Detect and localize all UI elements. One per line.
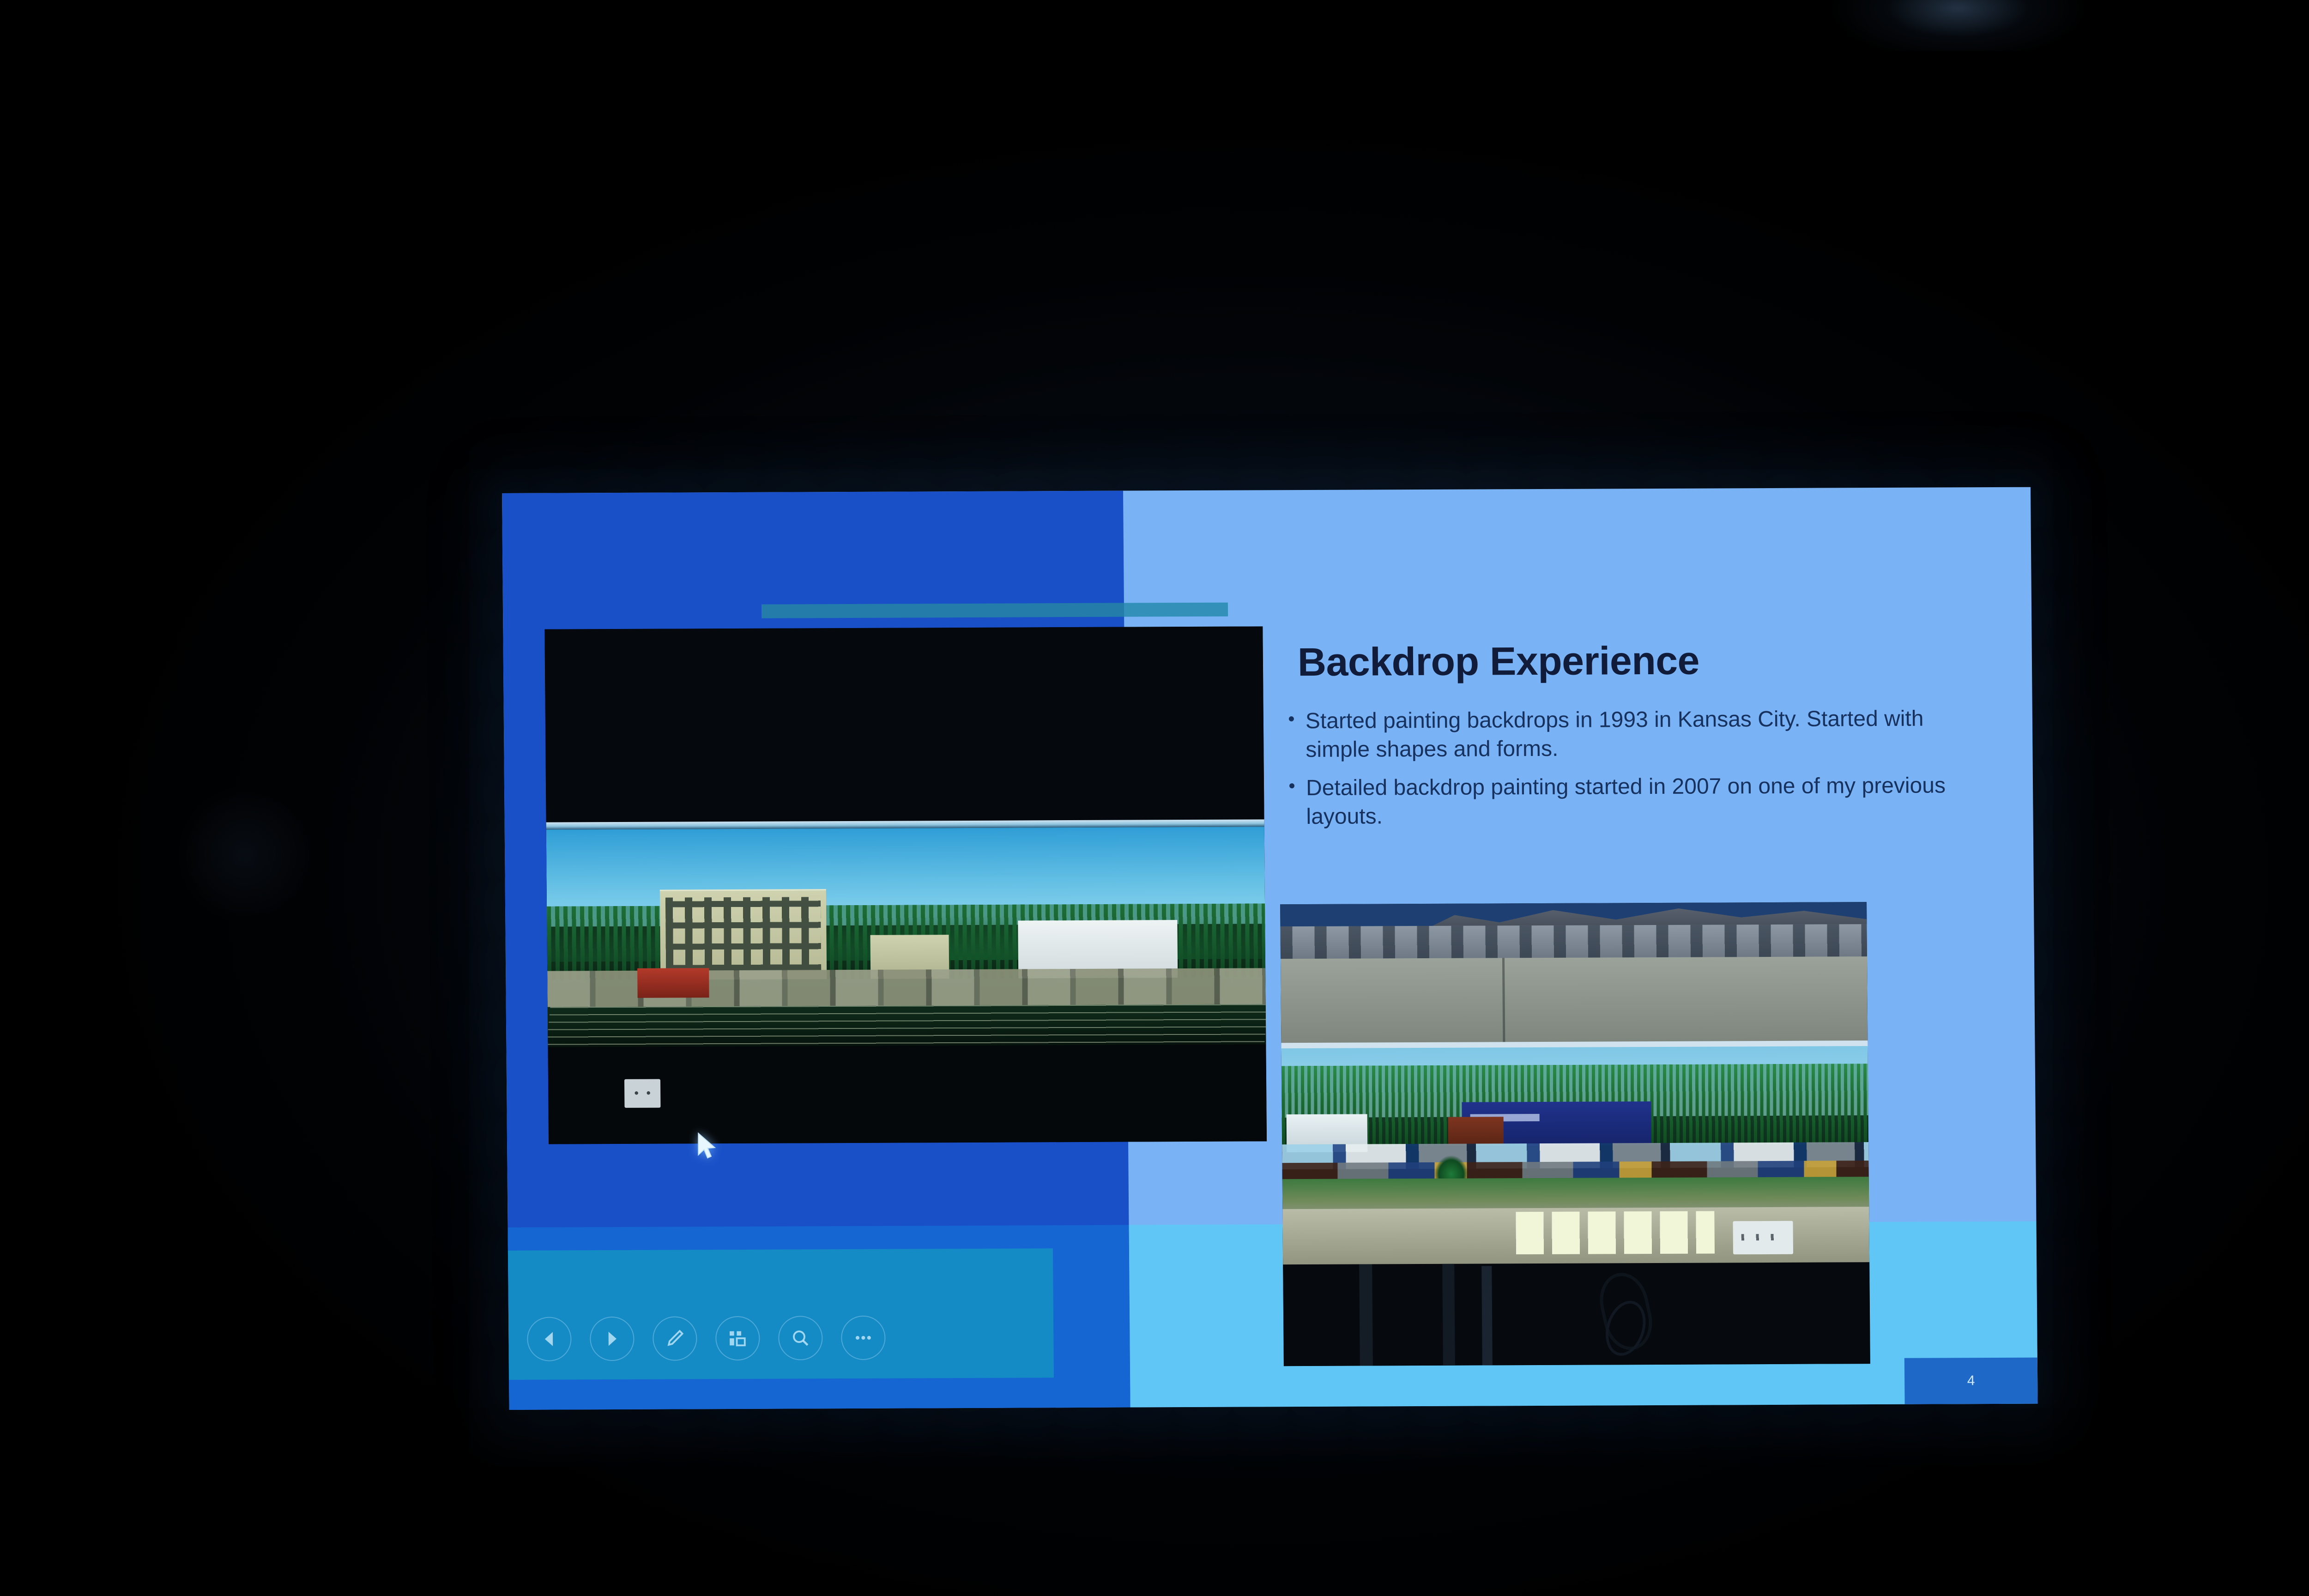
photo-upper-deck-fascia	[1281, 956, 1868, 1046]
photo-control-panel-papers	[1516, 1211, 1715, 1254]
pen-icon	[664, 1328, 685, 1349]
slide-number-badge: 4	[1904, 1358, 2038, 1404]
bullet-dot-icon	[1289, 707, 1296, 765]
photo-dark-upper-area	[544, 626, 1264, 825]
photo-industrial-building	[660, 889, 827, 981]
two-deck-layout-photo	[1280, 902, 1870, 1366]
slide-canvas: Backdrop Experience Started painting bac…	[502, 487, 2038, 1410]
mouse-pointer	[696, 1132, 718, 1162]
powerpoint-presenter-toolbar	[508, 1248, 1054, 1380]
bullet-text: Detailed backdrop painting started in 20…	[1306, 771, 1964, 831]
list-item: Detailed backdrop painting started in 20…	[1289, 771, 1964, 832]
photo-benchwork-leg	[1359, 1264, 1373, 1366]
ceiling-light-hotspot	[1829, 0, 2087, 51]
triangle-left-icon	[538, 1328, 560, 1349]
bullet-dot-icon	[1289, 774, 1296, 832]
lens-flare-spot	[175, 785, 314, 924]
photo-benchwork-leg	[1442, 1264, 1455, 1366]
triangle-right-icon	[601, 1328, 623, 1349]
bullet-text: Started painting backdrops in 1993 in Ka…	[1306, 704, 1964, 764]
slide-grid-icon	[727, 1328, 748, 1349]
photo-switch-plate	[1733, 1221, 1793, 1255]
ellipsis-icon	[852, 1327, 874, 1348]
zoom-slide-button[interactable]	[778, 1316, 823, 1360]
pen-tool-button[interactable]	[653, 1316, 697, 1360]
photo-benchwork-leg	[1481, 1266, 1493, 1365]
magnifier-icon	[790, 1327, 811, 1348]
photo-upper-deck-scenery	[1280, 924, 1867, 960]
previous-slide-button[interactable]	[527, 1317, 572, 1361]
photo-electrical-outlet	[624, 1079, 660, 1108]
teal-accent-bar-over-dark	[762, 603, 1124, 618]
all-slides-button[interactable]	[715, 1316, 760, 1360]
slide-bullet-list: Started painting backdrops in 1993 in Ka…	[1289, 704, 1964, 840]
model-railroad-yard-photo	[544, 626, 1267, 1144]
more-options-button[interactable]	[841, 1316, 886, 1360]
next-slide-button[interactable]	[590, 1317, 635, 1361]
slide-title: Backdrop Experience	[1298, 640, 1991, 682]
projected-slide-area: Backdrop Experience Started painting bac…	[502, 487, 2038, 1410]
photo-red-structure	[1448, 1117, 1504, 1145]
photo-red-locomotive	[637, 968, 709, 998]
list-item: Started painting backdrops in 1993 in Ka…	[1289, 704, 1964, 765]
